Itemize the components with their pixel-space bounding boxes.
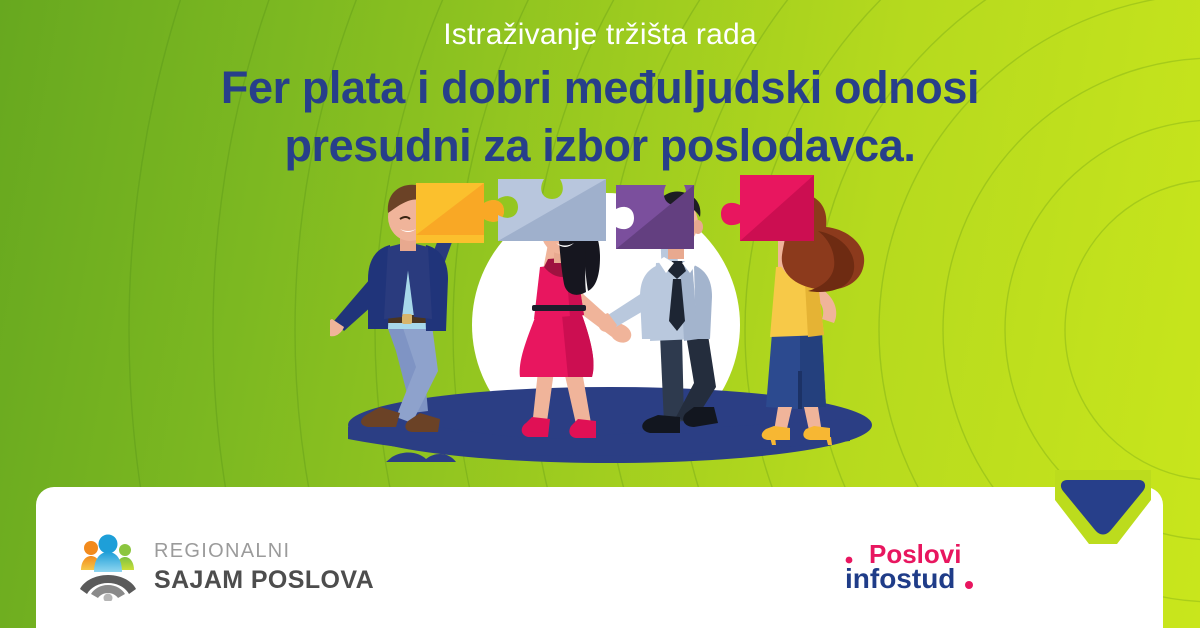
headline-block: Istraživanje tržišta rada Fer plata i do…: [0, 18, 1200, 174]
title-line-2: presudni za izbor poslodavca.: [90, 117, 1110, 175]
banner-root: Istraživanje tržišta rada Fer plata i do…: [0, 0, 1200, 628]
puzzle-piece-blue-gray: [498, 179, 606, 241]
title-line-1: Fer plata i dobri međuljudski odnosi: [221, 62, 979, 113]
kicker-text: Istraživanje tržišta rada: [0, 18, 1200, 51]
people-wifi-icon: [80, 533, 136, 601]
brand-word-infostud: infostud: [845, 563, 955, 594]
puzzle-piece-yellow: [416, 183, 504, 243]
poslovi-infostud-logo[interactable]: Poslovi infostud: [843, 536, 993, 598]
illustration-four-people-puzzle: [330, 175, 890, 495]
bottom-info-card: REGIONALNI SAJAM POSLOVA Poslovi infostu…: [36, 487, 1163, 628]
fair-label-regionalni: REGIONALNI: [154, 541, 374, 561]
brand-dot-left: [846, 557, 853, 564]
triangle-notch: [1055, 470, 1151, 544]
page-title: Fer plata i dobri međuljudski odnosi pre…: [0, 59, 1200, 174]
regionalni-sajam-poslova-logo[interactable]: REGIONALNI SAJAM POSLOVA: [80, 533, 374, 601]
puzzle-piece-pink: [721, 175, 814, 241]
fair-label-sajam-poslova: SAJAM POSLOVA: [154, 568, 374, 593]
brand-dot-right: [965, 581, 973, 589]
